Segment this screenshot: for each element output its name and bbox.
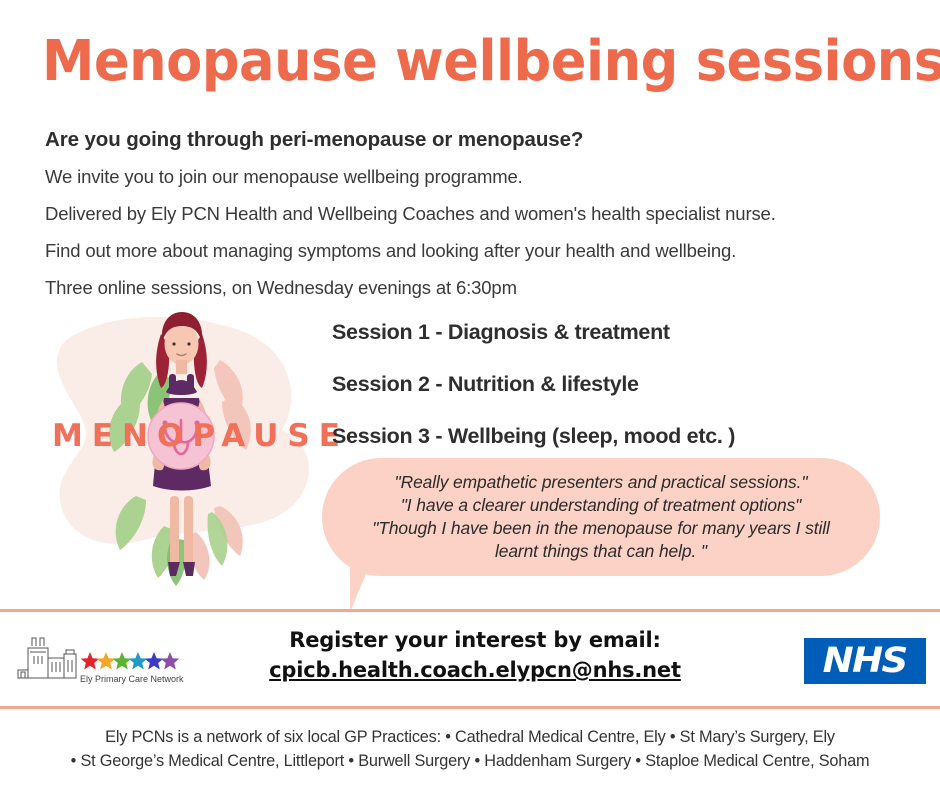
footer-line-2: • St George’s Medical Centre, Littleport… — [20, 750, 920, 774]
footer-practices: Ely PCNs is a network of six local GP Pr… — [20, 726, 920, 773]
session-item-3: Session 3 - Wellbeing (sleep, mood etc. … — [332, 424, 912, 449]
session-item-1: Session 1 - Diagnosis & treatment — [332, 320, 912, 345]
intro-line-4: Three online sessions, on Wednesday even… — [45, 277, 915, 299]
ely-pcn-logo: Ely Primary Care Networks — [14, 632, 184, 688]
nhs-logo: NHS — [804, 638, 926, 684]
testimonial-line-4: learnt things that can help. " — [372, 540, 830, 563]
intro-heading: Are you going through peri-menopause or … — [45, 128, 915, 152]
divider-top — [0, 609, 940, 612]
testimonial-line-3: "Though I have been in the menopause for… — [372, 517, 830, 540]
footer-line-1: Ely PCNs is a network of six local GP Pr… — [20, 726, 920, 750]
session-list: Session 1 - Diagnosis & treatment Sessio… — [332, 320, 912, 449]
session-item-2: Session 2 - Nutrition & lifestyle — [332, 372, 912, 397]
menopause-illustration — [24, 300, 334, 600]
testimonial-line-1: "Really empathetic presenters and practi… — [372, 471, 830, 494]
star-row — [81, 652, 180, 670]
poster-canvas: Menopause wellbeing sessions Are you goi… — [0, 0, 940, 788]
intro-line-3: Find out more about managing symptoms an… — [45, 240, 915, 262]
testimonial-text: "Really empathetic presenters and practi… — [350, 471, 852, 564]
testimonial-line-2: "I have a clearer understanding of treat… — [372, 494, 830, 517]
testimonial-bubble: "Really empathetic presenters and practi… — [322, 458, 880, 576]
intro-line-2: Delivered by Ely PCN Health and Wellbein… — [45, 203, 915, 225]
register-label: Register your interest by email: — [195, 628, 755, 652]
divider-bottom — [0, 706, 940, 709]
register-block: Register your interest by email: cpicb.h… — [195, 628, 755, 682]
nhs-logo-text: NHS — [823, 641, 907, 681]
intro-block: Are you going through peri-menopause or … — [45, 128, 915, 299]
ely-logo-caption: Ely Primary Care Networks — [80, 674, 184, 684]
intro-line-1: We invite you to join our menopause well… — [45, 166, 915, 188]
page-title: Menopause wellbeing sessions — [42, 34, 860, 90]
register-email-link[interactable]: cpicb.health.coach.elypcn@nhs.net — [269, 658, 681, 682]
